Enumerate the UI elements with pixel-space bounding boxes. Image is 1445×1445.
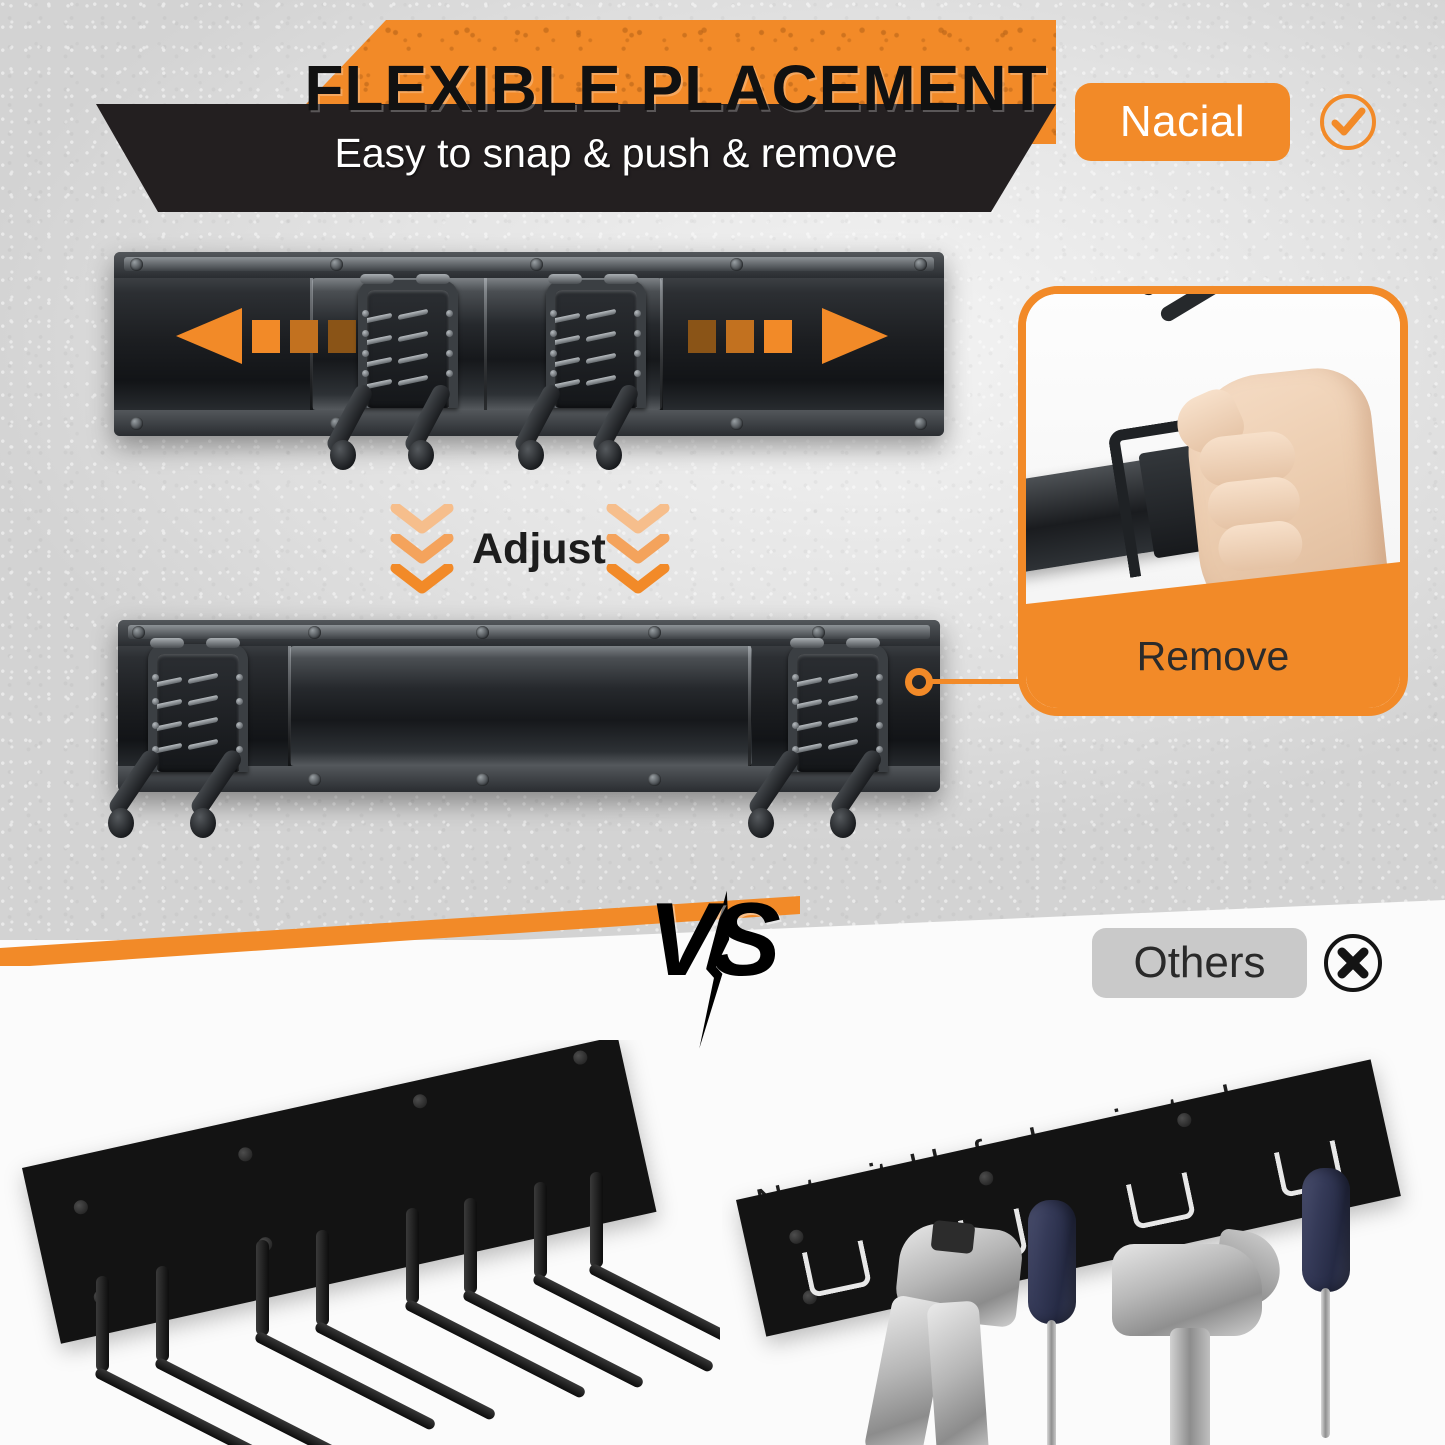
comparison-right: Not suitable for heavier tools — [722, 1040, 1445, 1445]
hook-assembly — [782, 636, 894, 826]
adjust-indicator: Adjust — [380, 498, 680, 600]
arrow-left-icon — [176, 308, 376, 364]
versus-badge: VS — [648, 884, 828, 1054]
comparison-left: Not suitable for wider tools — [0, 1040, 720, 1445]
screw — [914, 417, 927, 430]
competitor-panel-left — [22, 1040, 656, 1344]
versus-label: VS — [648, 884, 828, 1004]
screw — [476, 773, 489, 786]
arrow-right-icon — [688, 308, 888, 364]
screw — [130, 417, 143, 430]
chevron-down-icon — [606, 504, 670, 534]
chevron-group-right — [606, 498, 670, 600]
screw — [330, 258, 343, 271]
screw — [130, 258, 143, 271]
screw — [530, 258, 543, 271]
hook-assembly — [142, 636, 254, 826]
page-subtitle: Easy to snap & push & remove — [216, 118, 1016, 188]
screw — [476, 626, 489, 639]
check-circle-icon — [1318, 92, 1378, 152]
screw — [308, 773, 321, 786]
page-title: FLEXIBLE PLACEMENT — [296, 48, 1056, 128]
hook-assembly — [540, 272, 652, 462]
rail-top-lip — [124, 257, 934, 271]
adjust-label: Adjust — [472, 514, 592, 584]
chevron-group-left — [390, 498, 454, 600]
remove-caption-bar: Remove — [1026, 604, 1400, 708]
rail-seam — [484, 278, 487, 410]
chevron-down-icon — [390, 564, 454, 594]
x-circle-icon — [1322, 932, 1384, 994]
header-banner: FLEXIBLE PLACEMENT Easy to snap & push &… — [96, 20, 1056, 212]
infographic-stage: FLEXIBLE PLACEMENT Easy to snap & push &… — [0, 0, 1445, 1445]
leader-line — [930, 679, 1026, 684]
rail-seam — [660, 278, 663, 410]
brand-badge: Nacial — [1075, 83, 1290, 161]
screw — [648, 626, 661, 639]
remove-caption: Remove — [1137, 633, 1290, 680]
chevron-down-icon — [606, 534, 670, 564]
rail-seam — [288, 646, 291, 766]
others-label: Others — [1133, 938, 1265, 988]
rail-seam — [748, 646, 751, 766]
remove-callout-panel: Remove — [1018, 286, 1408, 716]
screw — [730, 417, 743, 430]
screw — [914, 258, 927, 271]
screw — [730, 258, 743, 271]
rail-top — [114, 252, 944, 436]
chevron-down-icon — [390, 504, 454, 534]
others-badge: Others — [1092, 928, 1307, 998]
leader-dot-icon — [905, 668, 933, 696]
hook-assembly — [352, 272, 464, 462]
rail-bottom-center-panel — [290, 646, 752, 766]
screw — [308, 626, 321, 639]
screw — [648, 773, 661, 786]
brand-label: Nacial — [1120, 97, 1245, 147]
chevron-down-icon — [390, 534, 454, 564]
chevron-down-icon — [606, 564, 670, 594]
